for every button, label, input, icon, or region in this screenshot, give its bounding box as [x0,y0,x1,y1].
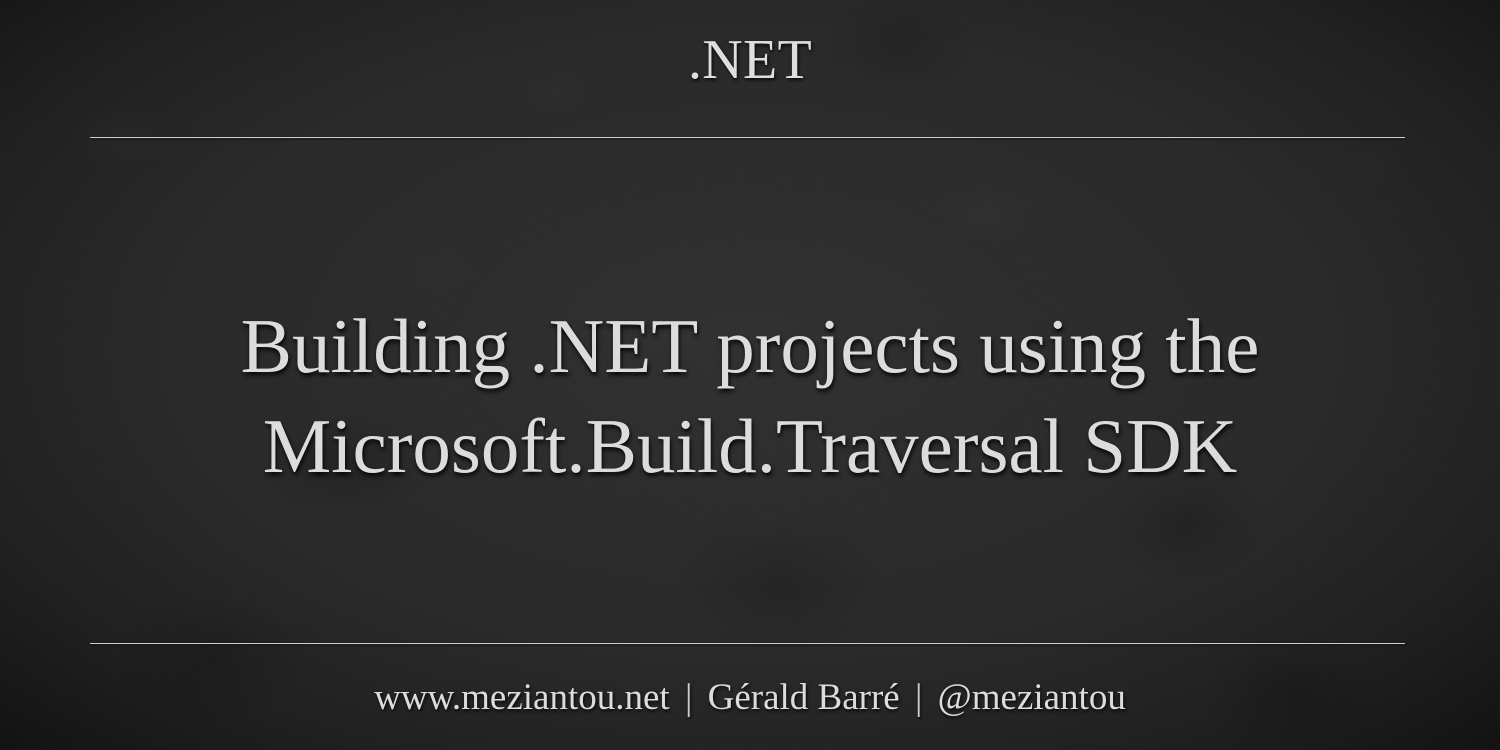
footer-social-handle: @meziantou [938,677,1126,718]
divider-bottom [90,643,1405,644]
presentation-slide: .NET Building .NET projects using the Mi… [0,0,1500,750]
footer-website: www.meziantou.net [374,677,670,718]
page-title-line-1: Building .NET projects using the [70,296,1430,396]
divider-top [90,137,1405,138]
page-title: Building .NET projects using the Microso… [70,296,1430,496]
page-title-line-2: Microsoft.Build.Traversal SDK [70,396,1430,496]
footer-author: Gérald Barré [708,677,900,718]
slide-content: .NET Building .NET projects using the Mi… [0,0,1500,750]
slide-footer: www.meziantou.net | Gérald Barré | @mezi… [0,674,1500,722]
footer-separator-1: | [679,677,698,718]
slide-eyebrow-label: .NET [0,26,1500,94]
footer-separator-2: | [909,677,928,718]
